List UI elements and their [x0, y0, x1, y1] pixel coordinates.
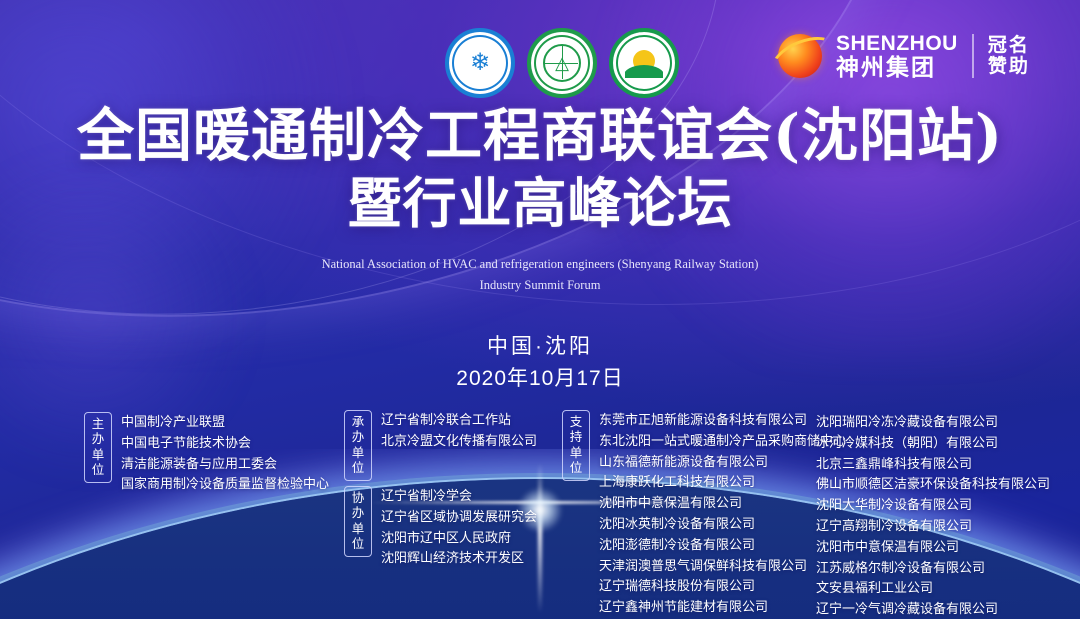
org-item: 辽宁高翔制冷设备有限公司	[816, 516, 1050, 537]
sponsor-tag-line2: 赞助	[988, 56, 1030, 77]
tag-char: 位	[347, 461, 369, 476]
tag-char: 主	[87, 417, 109, 432]
tag-char: 单	[347, 446, 369, 461]
event-location: 中国·沈阳	[0, 330, 1080, 360]
org-item: 上海康跃化工科技有限公司	[599, 472, 846, 493]
org-item: 清洁能源装备与应用工委会	[121, 454, 329, 475]
coorganizer-items: 辽宁省制冷学会辽宁省区域协调发展研究会沈阳市辽中区人民政府沈阳辉山经济技术开发区	[381, 486, 537, 569]
tag-char: 位	[347, 537, 369, 552]
org-item: 沈阳市辽中区人民政府	[381, 528, 537, 549]
event-date: 2020年10月17日	[0, 362, 1080, 392]
host-items: 中国制冷产业联盟中国电子节能技术协会清洁能源装备与应用工委会国家商用制冷设备质量…	[121, 412, 329, 495]
snowflake-icon: ❄	[470, 51, 490, 75]
event-poster: ❄ △ SHENZHOU 神州集团 冠名 赞助 全国暖通制冷工程商联谊会(沈阳站…	[0, 0, 1080, 619]
org-item: 沈阳辉山经济技术开发区	[381, 548, 537, 569]
sponsor-name: SHENZHOU 神州集团	[836, 33, 958, 79]
energy-saving-globe-badge-icon: △	[527, 28, 597, 98]
organizer-column: 承办单位 辽宁省制冷联合工作站北京冷盟文化传播有限公司	[344, 410, 537, 481]
tag-char: 单	[87, 448, 109, 463]
org-item: 辽宁鑫神州节能建材有限公司	[599, 597, 846, 618]
tag-char: 承	[347, 415, 369, 430]
org-item: 国家商用制冷设备质量监督检验中心	[121, 474, 329, 495]
sponsor-name-en: SHENZHOU	[836, 33, 958, 55]
org-item: 东北沈阳一站式暖通制冷产品采购商储中心	[599, 431, 846, 452]
supporter-items: 东莞市正旭新能源设备科技有限公司东北沈阳一站式暖通制冷产品采购商储中心山东福德新…	[599, 410, 846, 618]
org-item: 中国制冷产业联盟	[121, 412, 329, 433]
organizer-tag: 承办单位	[344, 410, 372, 481]
organizer-items: 辽宁省制冷联合工作站北京冷盟文化传播有限公司	[381, 410, 537, 452]
page-title-line2: 暨行业高峰论坛	[0, 172, 1080, 235]
clean-energy-sun-badge-icon	[609, 28, 679, 98]
subtitle-line2: Industry Summit Forum	[0, 275, 1080, 296]
org-item: 天津润澳普思气调保鲜科技有限公司	[599, 556, 846, 577]
org-item: 沈阳冰英制冷设备有限公司	[599, 514, 846, 535]
org-item: 佛山市顺德区洁豪环保设备科技有限公司	[816, 474, 1050, 495]
sponsor-tag: 冠名 赞助	[988, 35, 1030, 78]
tag-char: 单	[565, 446, 587, 461]
sponsor-tag-line1: 冠名	[988, 35, 1030, 56]
tag-char: 位	[87, 463, 109, 478]
org-item: 辽宁瑞德科技股份有限公司	[599, 576, 846, 597]
page-title-line1: 全国暖通制冷工程商联谊会(沈阳站)	[0, 104, 1080, 168]
tag-char: 办	[347, 506, 369, 521]
host-tag: 主办单位	[84, 412, 112, 483]
organization-lists: 主办单位 中国制冷产业联盟中国电子节能技术协会清洁能源装备与应用工委会国家商用制…	[0, 408, 1080, 619]
title-sponsor-logo: SHENZHOU 神州集团 冠名 赞助	[778, 33, 1030, 79]
org-item: 沈阳大华制冷设备有限公司	[816, 495, 1050, 516]
subtitle: National Association of HVAC and refrige…	[0, 254, 1080, 295]
org-item: 沈阳瑞阳冷冻冷藏设备有限公司	[816, 412, 1050, 433]
tag-char: 支	[565, 415, 587, 430]
org-item: 文安县福利工业公司	[816, 578, 1050, 599]
org-item: 辽宁一冷气调冷藏设备有限公司	[816, 599, 1050, 619]
supporter-tag: 支持单位	[562, 410, 590, 481]
org-item: 冰河冷媒科技（朝阳）有限公司	[816, 433, 1050, 454]
leaf-icon: △	[555, 54, 569, 72]
supporter-column-right: 沈阳瑞阳冷冻冷藏设备有限公司冰河冷媒科技（朝阳）有限公司北京三鑫鼎峰科技有限公司…	[816, 412, 1050, 619]
tag-char: 协	[347, 491, 369, 506]
supporter-column: 支持单位 东莞市正旭新能源设备科技有限公司东北沈阳一站式暖通制冷产品采购商储中心…	[562, 410, 846, 618]
org-item: 辽宁省区域协调发展研究会	[381, 507, 537, 528]
org-item: 东莞市正旭新能源设备科技有限公司	[599, 410, 846, 431]
china-refrigeration-badge-icon: ❄	[445, 28, 515, 98]
supporter-items-right: 沈阳瑞阳冷冻冷藏设备有限公司冰河冷媒科技（朝阳）有限公司北京三鑫鼎峰科技有限公司…	[816, 412, 1050, 619]
host-column: 主办单位 中国制冷产业联盟中国电子节能技术协会清洁能源装备与应用工委会国家商用制…	[84, 412, 329, 495]
globe-icon: △	[543, 44, 581, 82]
coorganizer-column: 协办单位 辽宁省制冷学会辽宁省区域协调发展研究会沈阳市辽中区人民政府沈阳辉山经济…	[344, 486, 537, 569]
org-item: 北京三鑫鼎峰科技有限公司	[816, 454, 1050, 475]
tag-char: 单	[347, 522, 369, 537]
title-block: 全国暖通制冷工程商联谊会(沈阳站) 暨行业高峰论坛 National Assoc…	[0, 104, 1080, 296]
org-item: 中国电子节能技术协会	[121, 433, 329, 454]
field-shape-icon	[625, 65, 663, 78]
sun-field-icon	[625, 48, 663, 78]
org-item: 沈阳市中意保温有限公司	[816, 537, 1050, 558]
org-item: 沈阳市中意保温有限公司	[599, 493, 846, 514]
org-item: 江苏威格尔制冷设备有限公司	[816, 558, 1050, 579]
org-item: 辽宁省制冷联合工作站	[381, 410, 537, 431]
org-item: 辽宁省制冷学会	[381, 486, 537, 507]
subtitle-line1: National Association of HVAC and refrige…	[0, 254, 1080, 275]
org-item: 山东福德新能源设备有限公司	[599, 452, 846, 473]
tag-char: 办	[87, 432, 109, 447]
tag-char: 办	[347, 430, 369, 445]
tag-char: 位	[565, 461, 587, 476]
org-item: 北京冷盟文化传播有限公司	[381, 431, 537, 452]
shenzhou-orb-icon	[778, 34, 822, 78]
org-item: 沈阳澎德制冷设备有限公司	[599, 535, 846, 556]
association-logos: ❄ △	[445, 28, 679, 98]
sponsor-name-cn: 神州集团	[836, 55, 958, 79]
sponsor-divider	[972, 34, 974, 78]
coorganizer-tag: 协办单位	[344, 486, 372, 557]
tag-char: 持	[565, 430, 587, 445]
